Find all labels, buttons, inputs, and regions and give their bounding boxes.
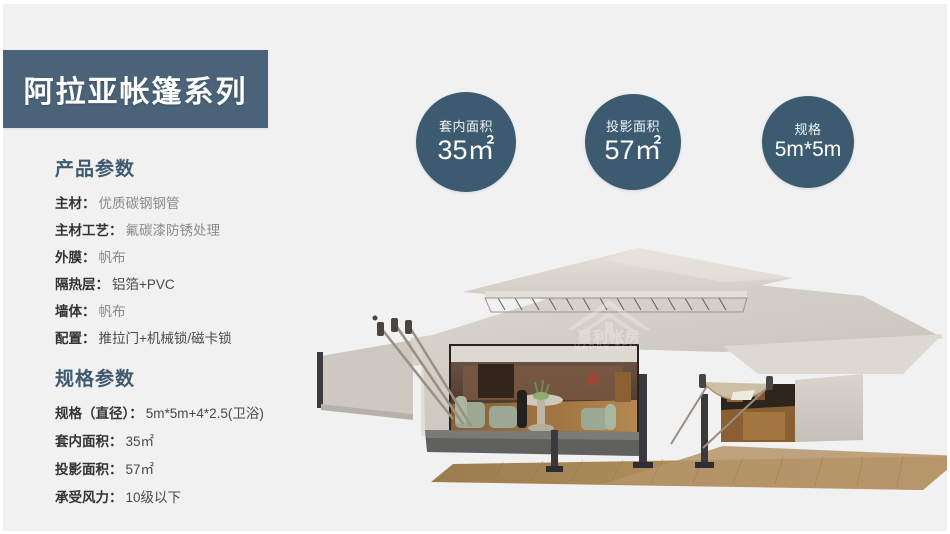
badge-label: 套内面积 (439, 120, 493, 134)
spec-label: 投影面积： (55, 462, 123, 477)
spec-value: 帆布 (99, 250, 126, 265)
badge-group: 套内面积 35㎡ 投影面积 57㎡ 规格 5m*5m (3, 4, 950, 214)
badge-projected-area: 投影面积 57㎡ (585, 94, 681, 190)
spec-value: 5m*5m+4*2.5(卫浴) (146, 406, 264, 421)
spec-value: 35㎡ (126, 434, 155, 449)
spec-label: 配置： (55, 331, 96, 346)
badge-value: 57㎡ (604, 136, 661, 164)
slide-page: 阿拉亚帐篷系列 产品参数 主材：优质碳钢钢管 主材工艺：氟碳漆防锈处理 外膜：帆… (0, 0, 950, 534)
badge-interior-area: 套内面积 35㎡ (416, 92, 516, 192)
spec-label: 隔热层： (55, 277, 109, 292)
badge-value: 5m*5m (775, 139, 842, 161)
spec-label: 主材工艺： (55, 223, 123, 238)
spec-value: 帆布 (99, 304, 126, 319)
spec-value: 氟碳漆防锈处理 (126, 223, 221, 238)
spec-value: 10级以下 (126, 490, 182, 505)
spec-label: 外膜： (55, 250, 96, 265)
badge-label: 投影面积 (606, 120, 660, 134)
badge-label: 规格 (794, 123, 821, 137)
badge-value: 35㎡ (437, 136, 494, 164)
spec-label: 套内面积： (55, 434, 123, 449)
spec-label: 承受风力： (55, 490, 123, 505)
tent-graphic (303, 234, 950, 509)
tent-illustration: 喜利帐房 HAPPY TENT (303, 234, 950, 509)
right-wall (795, 374, 863, 442)
spec-value: 推拉门+机械锁/磁卡锁 (99, 331, 232, 346)
spec-value: 铝箔+PVC (112, 277, 175, 292)
support-post (639, 374, 647, 466)
badge-dimensions: 规格 5m*5m (762, 96, 854, 188)
spec-label: 墙体： (55, 304, 96, 319)
spec-label: 规格（直径）： (55, 406, 143, 421)
spec-value: 57㎡ (126, 462, 155, 477)
